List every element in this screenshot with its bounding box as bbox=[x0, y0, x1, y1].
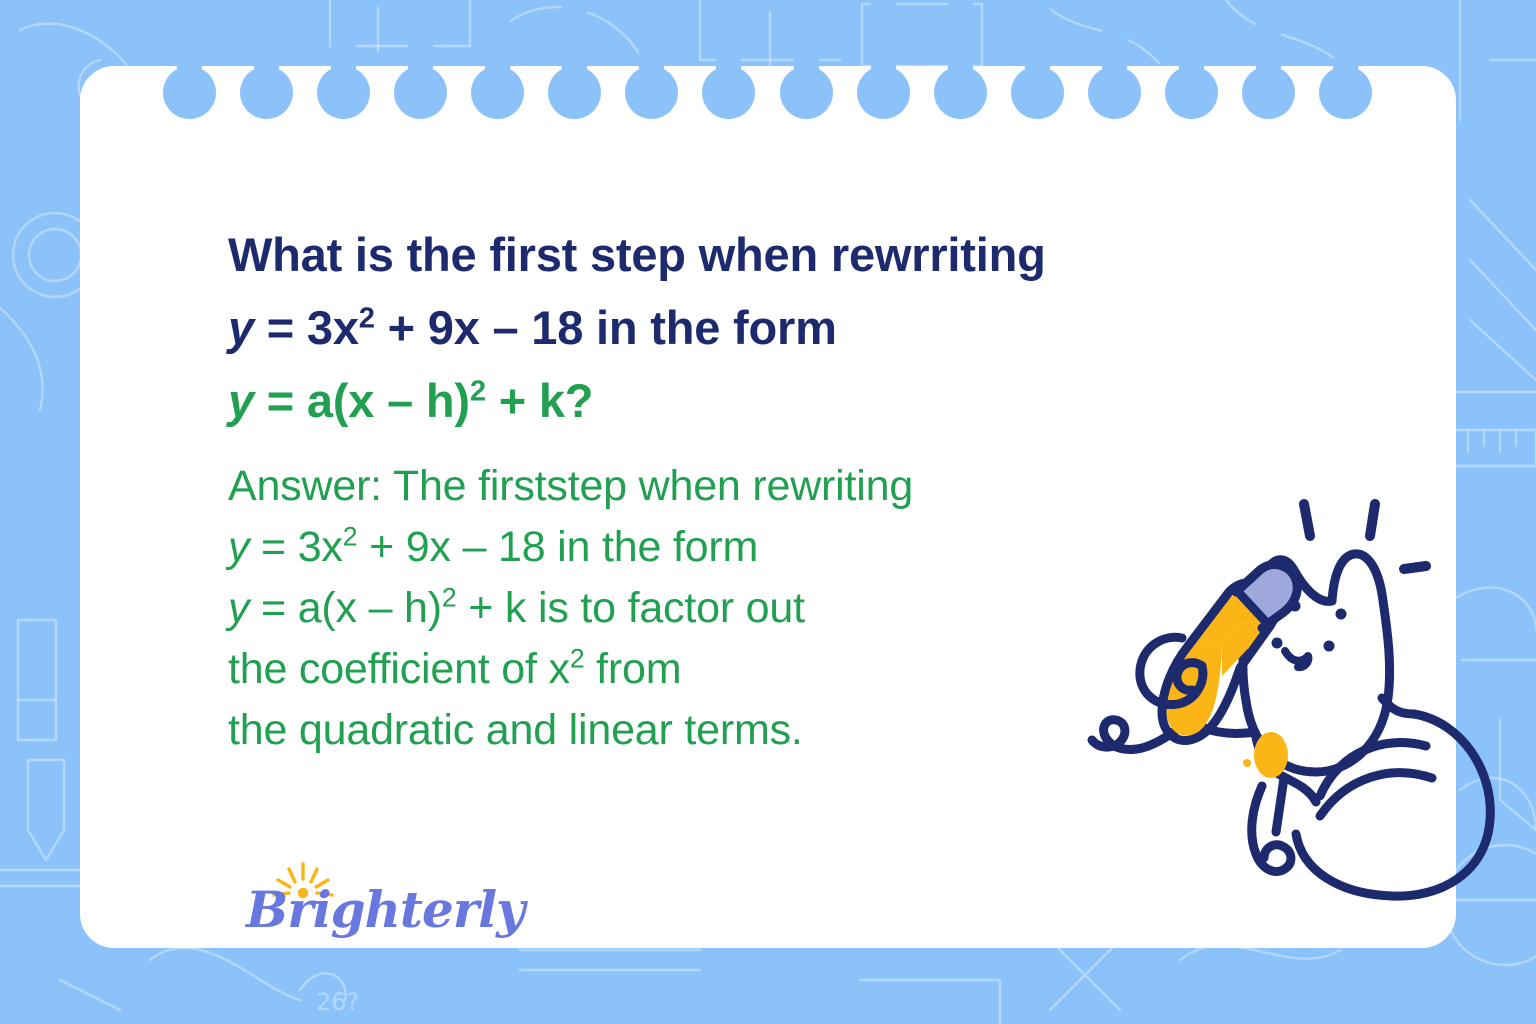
question-block: What is the first step when rewrriting y… bbox=[228, 218, 1348, 437]
question-line-2: y = 3x2 + 9x – 18 in the form bbox=[228, 291, 1348, 364]
question-line-1: What is the first step when rewrriting bbox=[228, 218, 1348, 291]
question-line-3: y = a(x – h)2 + k? bbox=[228, 364, 1348, 437]
notebook-card: What is the first step when rewrriting y… bbox=[80, 66, 1456, 948]
cat-mascot-illustration bbox=[1070, 486, 1510, 906]
logo-wordmark: Brighterly bbox=[246, 880, 524, 939]
brighterly-logo[interactable]: Brighterly bbox=[240, 860, 510, 950]
svg-text:26?: 26? bbox=[316, 988, 359, 1016]
